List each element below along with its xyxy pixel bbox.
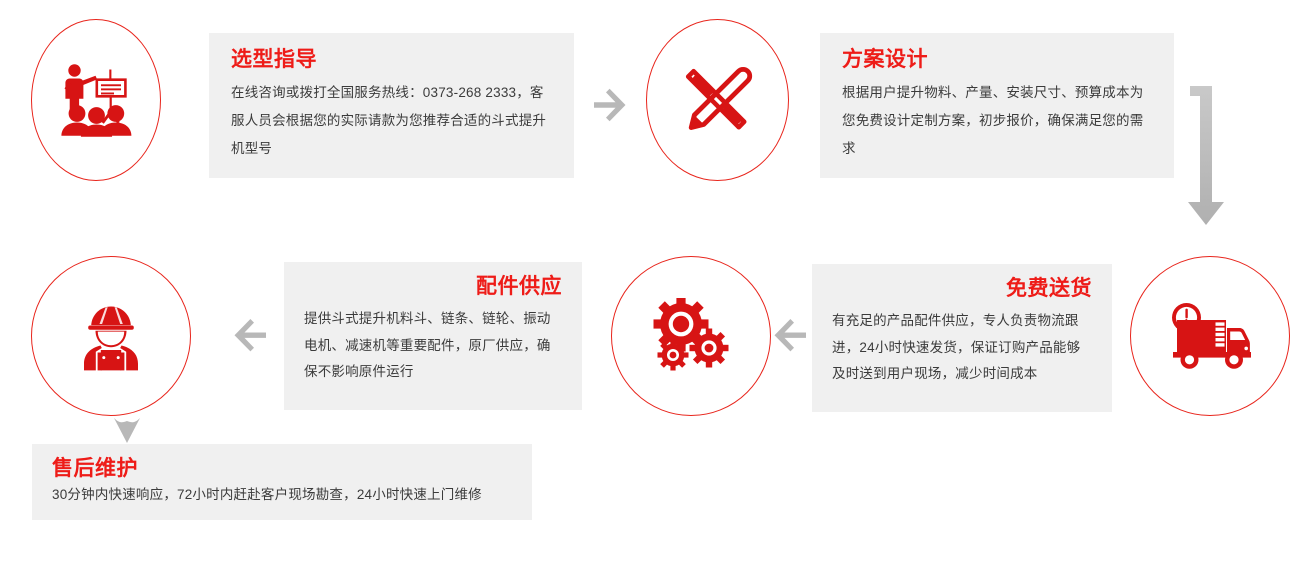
arrow-elbow-down-step2-to-step3 [1178,84,1234,228]
arrow-left-step4-to-step5 [224,312,272,360]
step-3-panel: 免费送货 有充足的产品配件供应，专人负责物流跟进，24小时快速发货，保证订购产品… [812,264,1112,412]
gears-icon [651,298,731,374]
step-1-body: 在线咨询或拨打全国服务热线：0373-268 2333，客服人员会根据您的实际请… [231,79,552,162]
step-2-panel: 方案设计 根据用户提升物料、产量、安装尺寸、预算成本为您免费设计定制方案，初步报… [820,33,1174,178]
service-flow-diagram: 选型指导 在线咨询或拨打全国服务热线：0373-268 2333，客服人员会根据… [0,0,1300,568]
step-2-title: 方案设计 [842,47,1152,73]
presenter-board-audience-icon [57,63,135,137]
arrow-left-step3-to-step4 [764,312,812,360]
step-3-title: 免费送货 [832,276,1092,302]
step-3-icon-circle[interactable] [1130,256,1290,416]
pencil-ruler-icon [683,66,753,134]
step-2-body: 根据用户提升物料、产量、安装尺寸、预算成本为您免费设计定制方案，初步报价，确保满… [842,79,1152,162]
step-1-panel: 选型指导 在线咨询或拨打全国服务热线：0373-268 2333，客服人员会根据… [209,33,574,178]
delivery-truck-clock-icon [1167,301,1253,371]
step-5-title: 售后维护 [52,456,512,482]
step-3-body: 有充足的产品配件供应，专人负责物流跟进，24小时快速发货，保证订购产品能够及时送… [832,308,1092,387]
step-1-title: 选型指导 [231,47,552,73]
step-4-body: 提供斗式提升机料斗、链条、链轮、振动电机、减速机等重要配件，原厂供应，确保不影响… [304,306,562,385]
step-5-icon-circle[interactable] [31,256,191,416]
step-4-title: 配件供应 [304,274,562,300]
step-4-panel: 配件供应 提供斗式提升机料斗、链条、链轮、振动电机、减速机等重要配件，原厂供应，… [284,262,582,410]
worker-helmet-icon [75,300,147,372]
arrow-right-step1-to-step2 [588,83,632,127]
step-5-body: 30分钟内快速响应，72小时内赶赴客户现场勘查，24小时快速上门维修 [52,484,512,506]
step-1-icon-circle[interactable] [31,19,161,181]
step-4-icon-circle[interactable] [611,256,771,416]
arrow-down-step5-to-panel [110,414,144,446]
step-2-icon-circle[interactable] [646,19,789,181]
step-5-panel: 售后维护 30分钟内快速响应，72小时内赶赴客户现场勘查，24小时快速上门维修 [32,444,532,520]
